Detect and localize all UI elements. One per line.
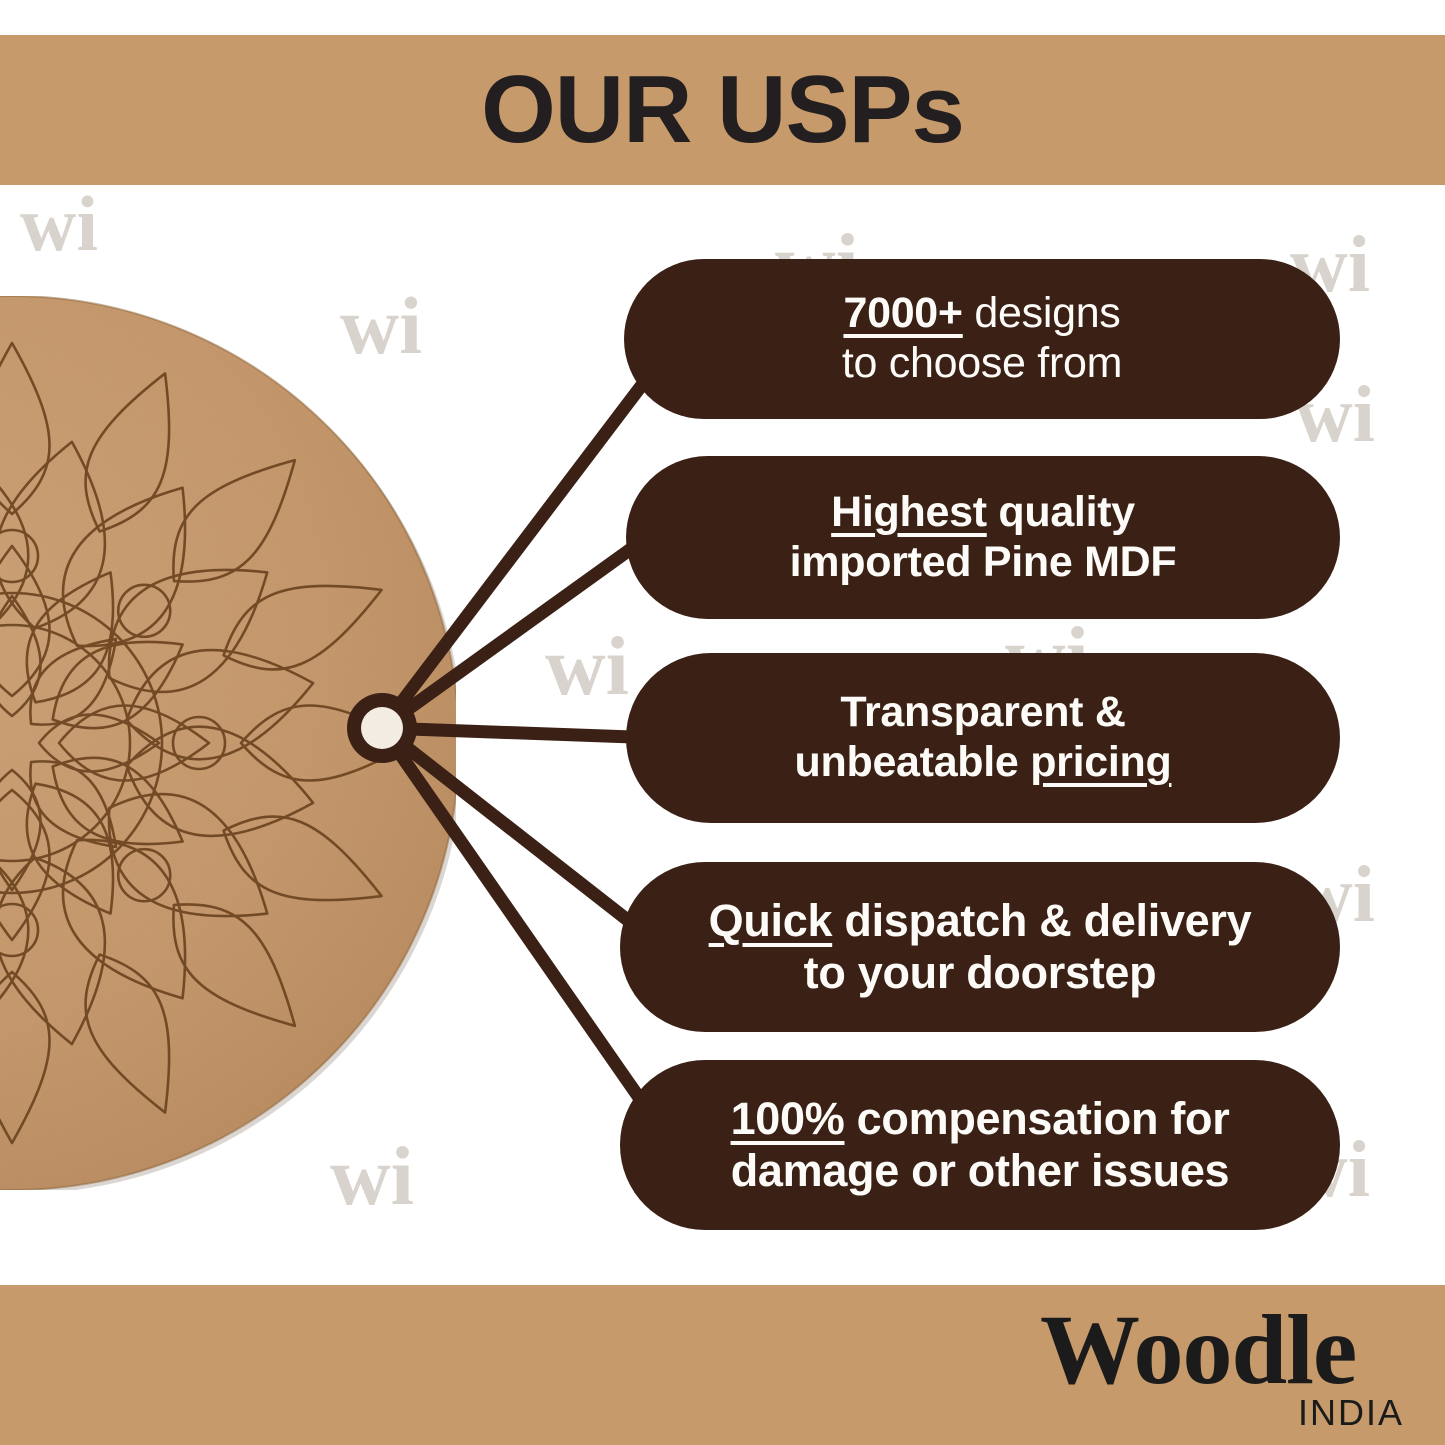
usp-highlight-quality: Highest [831, 488, 987, 536]
central-hub-node [347, 693, 417, 763]
usp-rest-quality: quality [987, 488, 1135, 536]
usp-pill-quality[interactable]: Highest quality imported Pine MDF [626, 456, 1340, 619]
usp-text-compensation: 100% compensation for damage or other is… [731, 1093, 1230, 1197]
usp-line2pre-pricing: unbeatable [795, 738, 1031, 786]
usp-text-pricing: Transparent & unbeatable pricing [795, 688, 1172, 788]
usp-text-quality: Highest quality imported Pine MDF [790, 488, 1177, 588]
usp-line2-designs: to choose from [842, 339, 1122, 387]
usp-pill-designs[interactable]: 7000+ designs to choose from [624, 259, 1340, 419]
usp-pill-pricing[interactable]: Transparent & unbeatable pricing [626, 653, 1340, 823]
usp-highlight-compensation: 100% [731, 1093, 845, 1144]
usp-rest-compensation: compensation for [844, 1093, 1229, 1144]
usp-rest-designs: designs [963, 289, 1121, 337]
usp-line1-pricing: Transparent & [840, 688, 1125, 736]
usp-pill-dispatch[interactable]: Quick dispatch & delivery to your doorst… [620, 862, 1340, 1032]
usp-pill-compensation[interactable]: 100% compensation for damage or other is… [620, 1060, 1340, 1230]
usp-text-designs: 7000+ designs to choose from [842, 289, 1122, 389]
logo-subtitle: INDIA [1298, 1392, 1404, 1434]
usp-line2-dispatch: to your doorstep [804, 947, 1157, 998]
watermark-wi-5: wi [545, 625, 629, 709]
hub-node-core [361, 707, 403, 749]
watermark-wi-0: wi [20, 185, 98, 263]
usp-highlight-pricing: pricing [1030, 738, 1171, 786]
usp-highlight-dispatch: Quick [709, 895, 833, 946]
usp-text-dispatch: Quick dispatch & delivery to your doorst… [709, 895, 1252, 999]
logo-wordmark: Woodle [1040, 1300, 1356, 1400]
usp-rest-dispatch: dispatch & delivery [832, 895, 1251, 946]
page-title: OUR USPs [0, 35, 1445, 185]
woodle-india-logo: Woodle INDIA [1010, 1300, 1410, 1435]
poster-canvas: wiwiwiwiwiwiwiwiwiwi OUR USPs [0, 0, 1445, 1445]
usp-line2-compensation: damage or other issues [731, 1145, 1230, 1196]
usp-highlight-designs: 7000+ [843, 289, 962, 337]
usp-line2-quality: imported Pine MDF [790, 538, 1177, 586]
